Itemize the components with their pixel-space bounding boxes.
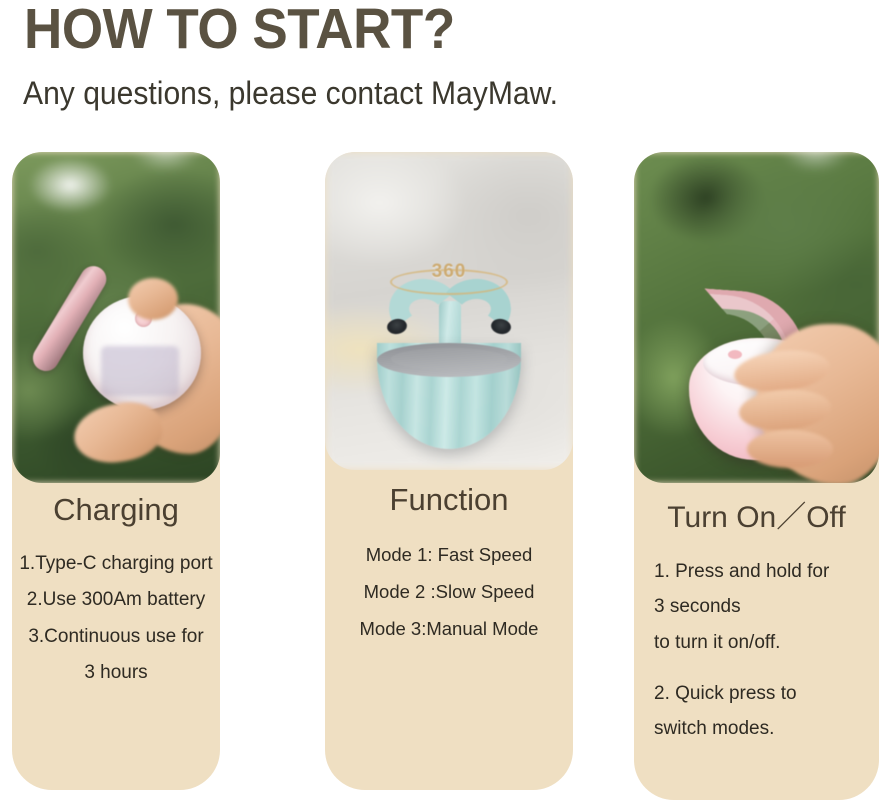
page-subtitle: Any questions, please contact MayMaw. (23, 75, 558, 112)
card-line: Mode 2 :Slow Speed (325, 573, 573, 610)
card-line: 2.Use 300Am battery (12, 582, 220, 618)
card-line: 1.Type-C charging port (12, 546, 220, 582)
card-body: Function Mode 1: Fast Speed Mode 2 :Slow… (325, 482, 573, 647)
rotation-360-annotation: 360 (390, 261, 508, 295)
power-button-icon (728, 350, 742, 359)
card-lines: 1.Type-C charging port 2.Use 300Am batte… (12, 546, 220, 692)
hand-finger (128, 278, 178, 320)
card-line: 1. Press and hold for (654, 554, 879, 589)
card-title: Function (325, 482, 573, 518)
puck-shadow (101, 346, 179, 396)
photo-inner: 360 (325, 152, 573, 470)
card-line: 3 seconds (654, 589, 879, 624)
card-title: Charging (12, 492, 220, 528)
device-mint-humidifier: 360 (369, 257, 529, 453)
hand-finger-3 (747, 430, 833, 468)
card-line: to turn it on/off. (654, 625, 879, 660)
card-body: Turn On／Off 1. Press and hold for 3 seco… (634, 492, 879, 747)
card-line: 2. Quick press to (654, 676, 879, 711)
card-line: switch modes. (654, 711, 879, 746)
rotation-label: 360 (432, 261, 467, 283)
card-line: 3 hours (12, 655, 220, 691)
card-title: Turn On／Off (634, 492, 879, 536)
card-body: Charging 1.Type-C charging port 2.Use 30… (12, 492, 220, 692)
bowl-rim-inner (391, 348, 507, 370)
page-title: HOW TO START? (24, 0, 455, 62)
photo-charging (12, 152, 220, 483)
card-line: Mode 3:Manual Mode (325, 610, 573, 647)
instruction-cards: Charging 1.Type-C charging port 2.Use 30… (0, 152, 891, 800)
photo-turn-on-off (634, 152, 879, 483)
card-line: 3.Continuous use for (12, 619, 220, 655)
card-lines: 1. Press and hold for 3 seconds to turn … (634, 554, 879, 747)
photo-function: 360 (325, 152, 573, 470)
photo-inner (12, 152, 220, 483)
card-lines: Mode 1: Fast Speed Mode 2 :Slow Speed Mo… (325, 536, 573, 647)
card-line: Mode 1: Fast Speed (325, 536, 573, 573)
photo-inner (634, 152, 879, 483)
